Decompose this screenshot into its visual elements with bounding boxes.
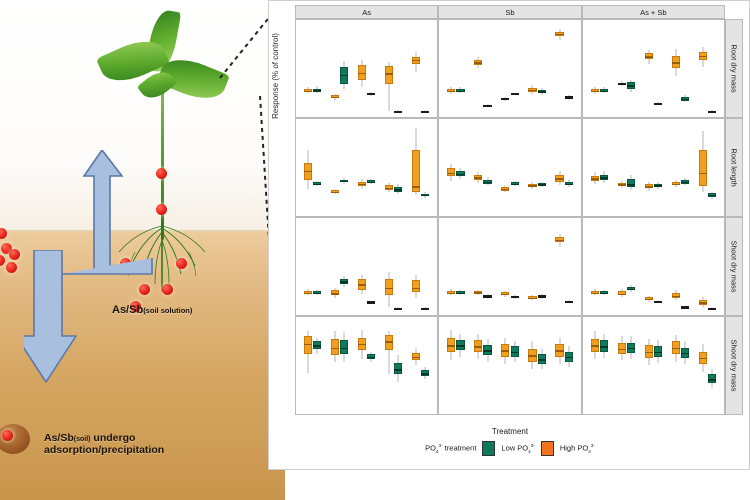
boxplot-median xyxy=(528,298,536,299)
boxplot-iqr xyxy=(501,98,509,100)
boxplot-box xyxy=(367,218,375,315)
x-axis-label: Treatment xyxy=(269,427,750,436)
boxplot-box xyxy=(565,317,573,414)
boxplot-median xyxy=(528,355,536,356)
boxplot-box xyxy=(654,218,662,315)
boxplot-box xyxy=(313,317,321,414)
boxplot-panel xyxy=(582,217,725,316)
boxplot-box xyxy=(681,317,689,414)
boxplot-median xyxy=(699,302,707,303)
boxplot-panel xyxy=(438,118,581,217)
boxplot-box xyxy=(421,20,429,117)
x-axis-tick-mark xyxy=(340,414,341,415)
boxplot-median xyxy=(555,350,563,351)
boxplot-panel xyxy=(582,118,725,217)
boxplot-iqr xyxy=(394,308,402,310)
row-facet-label: Root dry mass xyxy=(730,44,739,92)
row-facet-strip-0: Root dry mass xyxy=(725,19,743,118)
boxplot-iqr xyxy=(483,295,491,297)
as-sb-particle-icon xyxy=(162,284,173,295)
boxplot-box xyxy=(456,20,464,117)
boxplot-median xyxy=(699,173,707,174)
boxplot-median xyxy=(340,75,348,76)
boxplot-iqr xyxy=(708,308,716,310)
boxplot-median xyxy=(474,346,482,347)
column-facet-strip-as: As xyxy=(295,5,438,19)
boxplot-iqr xyxy=(654,103,662,105)
boxplot-box xyxy=(528,218,536,315)
boxplot-median xyxy=(645,352,653,353)
boxplot-box xyxy=(447,317,455,414)
boxplot-box xyxy=(313,119,321,216)
boxplot-box xyxy=(654,20,662,117)
boxplot-box xyxy=(538,317,546,414)
boxplot-box xyxy=(358,218,366,315)
boxplot-box xyxy=(474,218,482,315)
y-axis-tick-mark xyxy=(295,293,296,294)
boxplot-box xyxy=(708,20,716,117)
boxplot-box xyxy=(331,20,339,117)
boxplot-box xyxy=(447,218,455,315)
boxplot-median xyxy=(421,373,429,374)
boxplot-box xyxy=(313,20,321,117)
boxplot-box xyxy=(331,119,339,216)
boxplot-box xyxy=(681,119,689,216)
row-facet-label: Shoot dry mass xyxy=(730,339,739,391)
row-facet-strip-2: Shoot dry mass xyxy=(725,217,743,316)
boxplot-median xyxy=(412,60,420,61)
boxplot-box xyxy=(385,20,393,117)
boxplot-box xyxy=(600,218,608,315)
boxplot-median xyxy=(331,293,339,294)
boxplot-median xyxy=(367,357,375,358)
boxplot-box xyxy=(708,317,716,414)
boxplot-median xyxy=(474,292,482,293)
y-axis-tick-mark xyxy=(295,372,296,373)
y-axis-tick-mark xyxy=(295,275,296,276)
soil-plant-schematic: As/Sb(soil solution) As/Sb(soil) undergo… xyxy=(0,0,285,500)
boxplot-box xyxy=(538,20,546,117)
boxplot-box xyxy=(313,218,321,315)
boxplot-box xyxy=(528,119,536,216)
boxplot-median xyxy=(627,348,635,349)
boxplot-median xyxy=(627,289,635,290)
boxplot-panel xyxy=(438,217,581,316)
legend: PO43- treatmentLow PO43-High PO43- xyxy=(269,441,750,456)
boxplot-box xyxy=(618,317,626,414)
boxplot-median xyxy=(591,293,599,294)
boxplot-median xyxy=(313,90,321,91)
boxplot-box xyxy=(331,317,339,414)
boxplot-median xyxy=(555,34,563,35)
boxplot-median xyxy=(331,348,339,349)
boxplot-median xyxy=(456,345,464,346)
boxplot-box xyxy=(456,119,464,216)
boxplot-box xyxy=(412,317,420,414)
boxplot-box xyxy=(447,119,455,216)
boxplot-median xyxy=(645,56,653,57)
boxplot-iqr xyxy=(385,66,393,84)
boxplot-box xyxy=(600,20,608,117)
boxplot-box xyxy=(421,218,429,315)
y-axis-tick-mark xyxy=(295,212,296,213)
x-axis-tick-mark xyxy=(510,414,511,415)
boxplot-median xyxy=(394,369,402,370)
boxplot-box xyxy=(456,218,464,315)
boxplot-median xyxy=(385,188,393,189)
boxplot-median xyxy=(394,189,402,190)
legend-title: PO43- treatment xyxy=(425,443,476,454)
boxplot-box xyxy=(331,218,339,315)
boxplot-box xyxy=(474,317,482,414)
boxplot-box xyxy=(672,20,680,117)
boxplot-median xyxy=(600,293,608,294)
boxplot-median xyxy=(654,185,662,186)
y-axis-tick-mark xyxy=(295,145,296,146)
boxplot-median xyxy=(555,178,563,179)
boxplot-median xyxy=(699,358,707,359)
x-axis-tick-mark xyxy=(626,414,627,415)
boxplot-iqr xyxy=(708,111,716,113)
boxplot-panel: 050100150200 xyxy=(295,118,438,217)
y-axis-tick-mark xyxy=(295,190,296,191)
boxplot-median xyxy=(358,344,366,345)
boxplot-median xyxy=(511,184,519,185)
boxplot-box xyxy=(367,20,375,117)
boxplot-median xyxy=(447,293,455,294)
boxplot-box xyxy=(699,119,707,216)
boxplot-median xyxy=(313,293,321,294)
row-facet-label: Shoot dry mass xyxy=(730,240,739,292)
as-sb-particle-icon xyxy=(156,168,167,179)
y-axis-tick-mark xyxy=(295,69,296,70)
boxplot-median xyxy=(681,182,689,183)
boxplot-box xyxy=(672,119,680,216)
boxplot-median xyxy=(672,184,680,185)
boxplot-median xyxy=(456,293,464,294)
boxplot-median xyxy=(304,344,312,345)
legend-label-low-phosphate: Low PO43- xyxy=(501,443,534,454)
boxplot-median xyxy=(555,240,563,241)
boxplot-median xyxy=(654,352,662,353)
boxplot-box xyxy=(421,317,429,414)
row-facet-strip-3: Shoot dry mass xyxy=(725,316,743,415)
boxplot-median xyxy=(565,357,573,358)
boxplot-median xyxy=(447,345,455,346)
x-axis-tick-mark xyxy=(394,414,395,415)
boxplot-median xyxy=(699,56,707,57)
boxplot-box xyxy=(627,317,635,414)
boxplot-box xyxy=(367,317,375,414)
boxplot-box xyxy=(681,218,689,315)
boxplot-box xyxy=(483,119,491,216)
boxplot-iqr xyxy=(565,301,573,303)
boxplot-median xyxy=(528,185,536,186)
boxplot-box xyxy=(340,218,348,315)
boxplot-median xyxy=(385,288,393,289)
boxplot-box xyxy=(591,317,599,414)
boxplot-box xyxy=(681,20,689,117)
boxplot-median xyxy=(456,91,464,92)
boxplot-median xyxy=(447,91,455,92)
boxplot-iqr xyxy=(618,83,626,85)
boxplot-box xyxy=(672,317,680,414)
as-sb-particle-icon xyxy=(2,430,13,441)
boxplot-iqr xyxy=(421,308,429,310)
boxplot-box xyxy=(627,218,635,315)
x-axis-tick-mark xyxy=(456,414,457,415)
boxplot-box xyxy=(474,20,482,117)
boxplot-median xyxy=(645,186,653,187)
boxplot-iqr xyxy=(385,279,393,295)
boxplot-box xyxy=(412,119,420,216)
boxplot-box xyxy=(528,317,536,414)
y-axis-tick-mark xyxy=(295,168,296,169)
as-sb-particle-icon xyxy=(6,262,17,273)
boxplot-box xyxy=(645,119,653,216)
boxplot-box xyxy=(412,218,420,315)
boxplot-box xyxy=(304,119,312,216)
boxplot-box xyxy=(555,20,563,117)
boxplot-box xyxy=(340,20,348,117)
boxplot-box xyxy=(385,119,393,216)
y-axis-tick-mark xyxy=(295,258,296,259)
boxplot-box xyxy=(394,317,402,414)
boxplot-iqr xyxy=(367,93,375,95)
y-axis-tick-mark xyxy=(295,240,296,241)
boxplot-box xyxy=(394,119,402,216)
boxplot-median xyxy=(331,97,339,98)
boxplot-median xyxy=(538,91,546,92)
column-facet-strip-sb: Sb xyxy=(438,5,581,19)
boxplot-iqr xyxy=(538,295,546,297)
boxplot-box xyxy=(708,119,716,216)
boxplot-box xyxy=(627,119,635,216)
boxplot-iqr xyxy=(699,150,707,186)
boxplot-box xyxy=(483,20,491,117)
boxplot-box xyxy=(555,119,563,216)
boxplot-iqr xyxy=(367,301,375,303)
boxplot-box xyxy=(699,317,707,414)
plot-area: Response (% of control) AsSbAs + Sb01002… xyxy=(269,1,750,471)
boxplot-box xyxy=(618,20,626,117)
boxplot-median xyxy=(483,350,491,351)
legend-swatch-low-phosphate[interactable] xyxy=(482,441,495,456)
boxplot-median xyxy=(412,357,420,358)
boxplot-box xyxy=(627,20,635,117)
boxplot-box xyxy=(501,218,509,315)
boxplot-iqr xyxy=(511,296,519,298)
as-sb-particle-icon xyxy=(176,258,187,269)
boxplot-median xyxy=(565,184,573,185)
boxplot-median xyxy=(501,294,509,295)
boxplot-box xyxy=(600,119,608,216)
boxplot-box xyxy=(654,317,662,414)
boxplot-median xyxy=(331,192,339,193)
y-axis-tick-mark xyxy=(295,123,296,124)
boxplot-median xyxy=(681,99,689,100)
boxplot-box xyxy=(501,317,509,414)
boxplot-median xyxy=(340,281,348,282)
x-axis-tick-mark xyxy=(680,414,681,415)
boxplot-median xyxy=(627,184,635,185)
boxplot-box xyxy=(511,317,519,414)
boxplot-box xyxy=(555,218,563,315)
boxplot-median xyxy=(456,174,464,175)
boxplot-box xyxy=(565,119,573,216)
boxplot-box xyxy=(654,119,662,216)
boxplot-median xyxy=(618,349,626,350)
boxplot-median xyxy=(511,352,519,353)
y-axis-tick-mark xyxy=(295,397,296,398)
x-axis-tick-mark xyxy=(599,414,600,415)
boxplot-median xyxy=(340,348,348,349)
boxplot-box xyxy=(511,119,519,216)
boxplot-iqr xyxy=(654,301,662,303)
soil-solution-label: As/Sb(soil solution) xyxy=(112,304,192,317)
boxplot-panel xyxy=(582,19,725,118)
boxplot-box xyxy=(385,317,393,414)
boxplot-median xyxy=(672,62,680,63)
boxplot-box xyxy=(358,20,366,117)
boxplot-iqr xyxy=(681,306,689,308)
boxplot-iqr xyxy=(627,179,635,187)
boxplot-box xyxy=(483,317,491,414)
boxplot-median xyxy=(501,189,509,190)
boxplot-box xyxy=(591,119,599,216)
boxplot-median xyxy=(304,293,312,294)
x-axis-tick-mark xyxy=(707,414,708,415)
boxplot-iqr xyxy=(565,96,573,98)
boxplot-iqr xyxy=(421,111,429,113)
boxplot-figure-panel: Response (% of control) AsSbAs + Sb01002… xyxy=(268,0,750,470)
row-facet-label: Root length xyxy=(730,148,739,186)
boxplot-box xyxy=(565,218,573,315)
boxplot-iqr xyxy=(412,280,420,291)
boxplot-box xyxy=(645,317,653,414)
legend-label-high-phosphate: High PO43- xyxy=(560,443,595,454)
boxplot-median xyxy=(358,184,366,185)
boxplot-panel: Control1234 xyxy=(438,316,581,415)
boxplot-median xyxy=(591,91,599,92)
boxplot-box xyxy=(618,119,626,216)
transport-arrow-icon xyxy=(24,250,154,410)
adsorption-label: As/Sb(soil) undergo adsorption/precipita… xyxy=(44,432,214,456)
boxplot-iqr xyxy=(394,111,402,113)
boxplot-box xyxy=(501,20,509,117)
boxplot-median xyxy=(618,184,626,185)
boxplot-box xyxy=(538,218,546,315)
boxplot-median xyxy=(600,91,608,92)
boxplot-median xyxy=(528,90,536,91)
boxplot-box xyxy=(304,218,312,315)
as-sb-particle-icon xyxy=(156,204,167,215)
x-axis-tick-mark xyxy=(537,414,538,415)
boxplot-box xyxy=(501,119,509,216)
column-facet-strip-as-sb: As + Sb xyxy=(582,5,725,19)
x-axis-tick-mark xyxy=(367,414,368,415)
boxplot-median xyxy=(708,379,716,380)
boxplot-median xyxy=(600,346,608,347)
boxplot-box xyxy=(474,119,482,216)
boxplot-box xyxy=(645,20,653,117)
boxplot-box xyxy=(555,317,563,414)
y-axis-tick-mark xyxy=(295,46,296,47)
boxplot-median xyxy=(708,195,716,196)
boxplot-median xyxy=(304,91,312,92)
y-axis-tick-mark xyxy=(295,113,296,114)
boxplot-median xyxy=(645,299,653,300)
boxplot-box xyxy=(304,20,312,117)
boxplot-median xyxy=(421,195,429,196)
boxplot-median xyxy=(591,178,599,179)
boxplot-panel: 0100200300400 xyxy=(295,217,438,316)
boxplot-median xyxy=(367,182,375,183)
boxplot-box xyxy=(618,218,626,315)
boxplot-box xyxy=(421,119,429,216)
boxplot-box xyxy=(591,218,599,315)
boxplot-median xyxy=(385,73,393,74)
boxplot-box xyxy=(699,20,707,117)
boxplot-box xyxy=(511,218,519,315)
boxplot-box xyxy=(394,218,402,315)
as-sb-particle-icon xyxy=(9,249,20,260)
boxplot-median xyxy=(538,359,546,360)
boxplot-panel: Control1234 xyxy=(582,316,725,415)
boxplot-median xyxy=(591,345,599,346)
boxplot-iqr xyxy=(483,105,491,107)
boxplot-box xyxy=(340,119,348,216)
boxplot-median xyxy=(313,184,321,185)
figure-root: As/Sb(soil solution) As/Sb(soil) undergo… xyxy=(0,0,750,500)
boxplot-box xyxy=(528,20,536,117)
boxplot-box xyxy=(672,218,680,315)
boxplot-box xyxy=(340,317,348,414)
boxplot-median xyxy=(538,184,546,185)
boxplot-box xyxy=(600,317,608,414)
boxplot-median xyxy=(412,288,420,289)
boxplot-median xyxy=(385,341,393,342)
boxplot-box xyxy=(304,317,312,414)
boxplot-box xyxy=(385,218,393,315)
legend-swatch-high-phosphate[interactable] xyxy=(541,441,554,456)
y-axis-tick-mark xyxy=(295,311,296,312)
boxplot-median xyxy=(358,284,366,285)
y-axis-label: Response (% of control) xyxy=(271,1,280,151)
boxplot-median xyxy=(627,85,635,86)
boxplot-box xyxy=(699,218,707,315)
boxplot-median xyxy=(681,353,689,354)
boxplot-panel: 2060100Control1234 xyxy=(295,316,438,415)
x-axis-tick-mark xyxy=(483,414,484,415)
boxplot-panel: 0100200300 xyxy=(295,19,438,118)
boxplot-box xyxy=(591,20,599,117)
boxplot-median xyxy=(447,173,455,174)
boxplot-median xyxy=(340,181,348,182)
boxplot-median xyxy=(474,62,482,63)
boxplot-box xyxy=(645,218,653,315)
boxplot-median xyxy=(412,186,420,187)
x-axis-tick-mark xyxy=(421,414,422,415)
boxplot-box xyxy=(456,317,464,414)
boxplot-box xyxy=(708,218,716,315)
boxplot-box xyxy=(447,20,455,117)
boxplot-box xyxy=(367,119,375,216)
row-facet-strip-1: Root length xyxy=(725,118,743,217)
boxplot-median xyxy=(474,177,482,178)
boxplot-median xyxy=(600,177,608,178)
boxplot-box xyxy=(483,218,491,315)
